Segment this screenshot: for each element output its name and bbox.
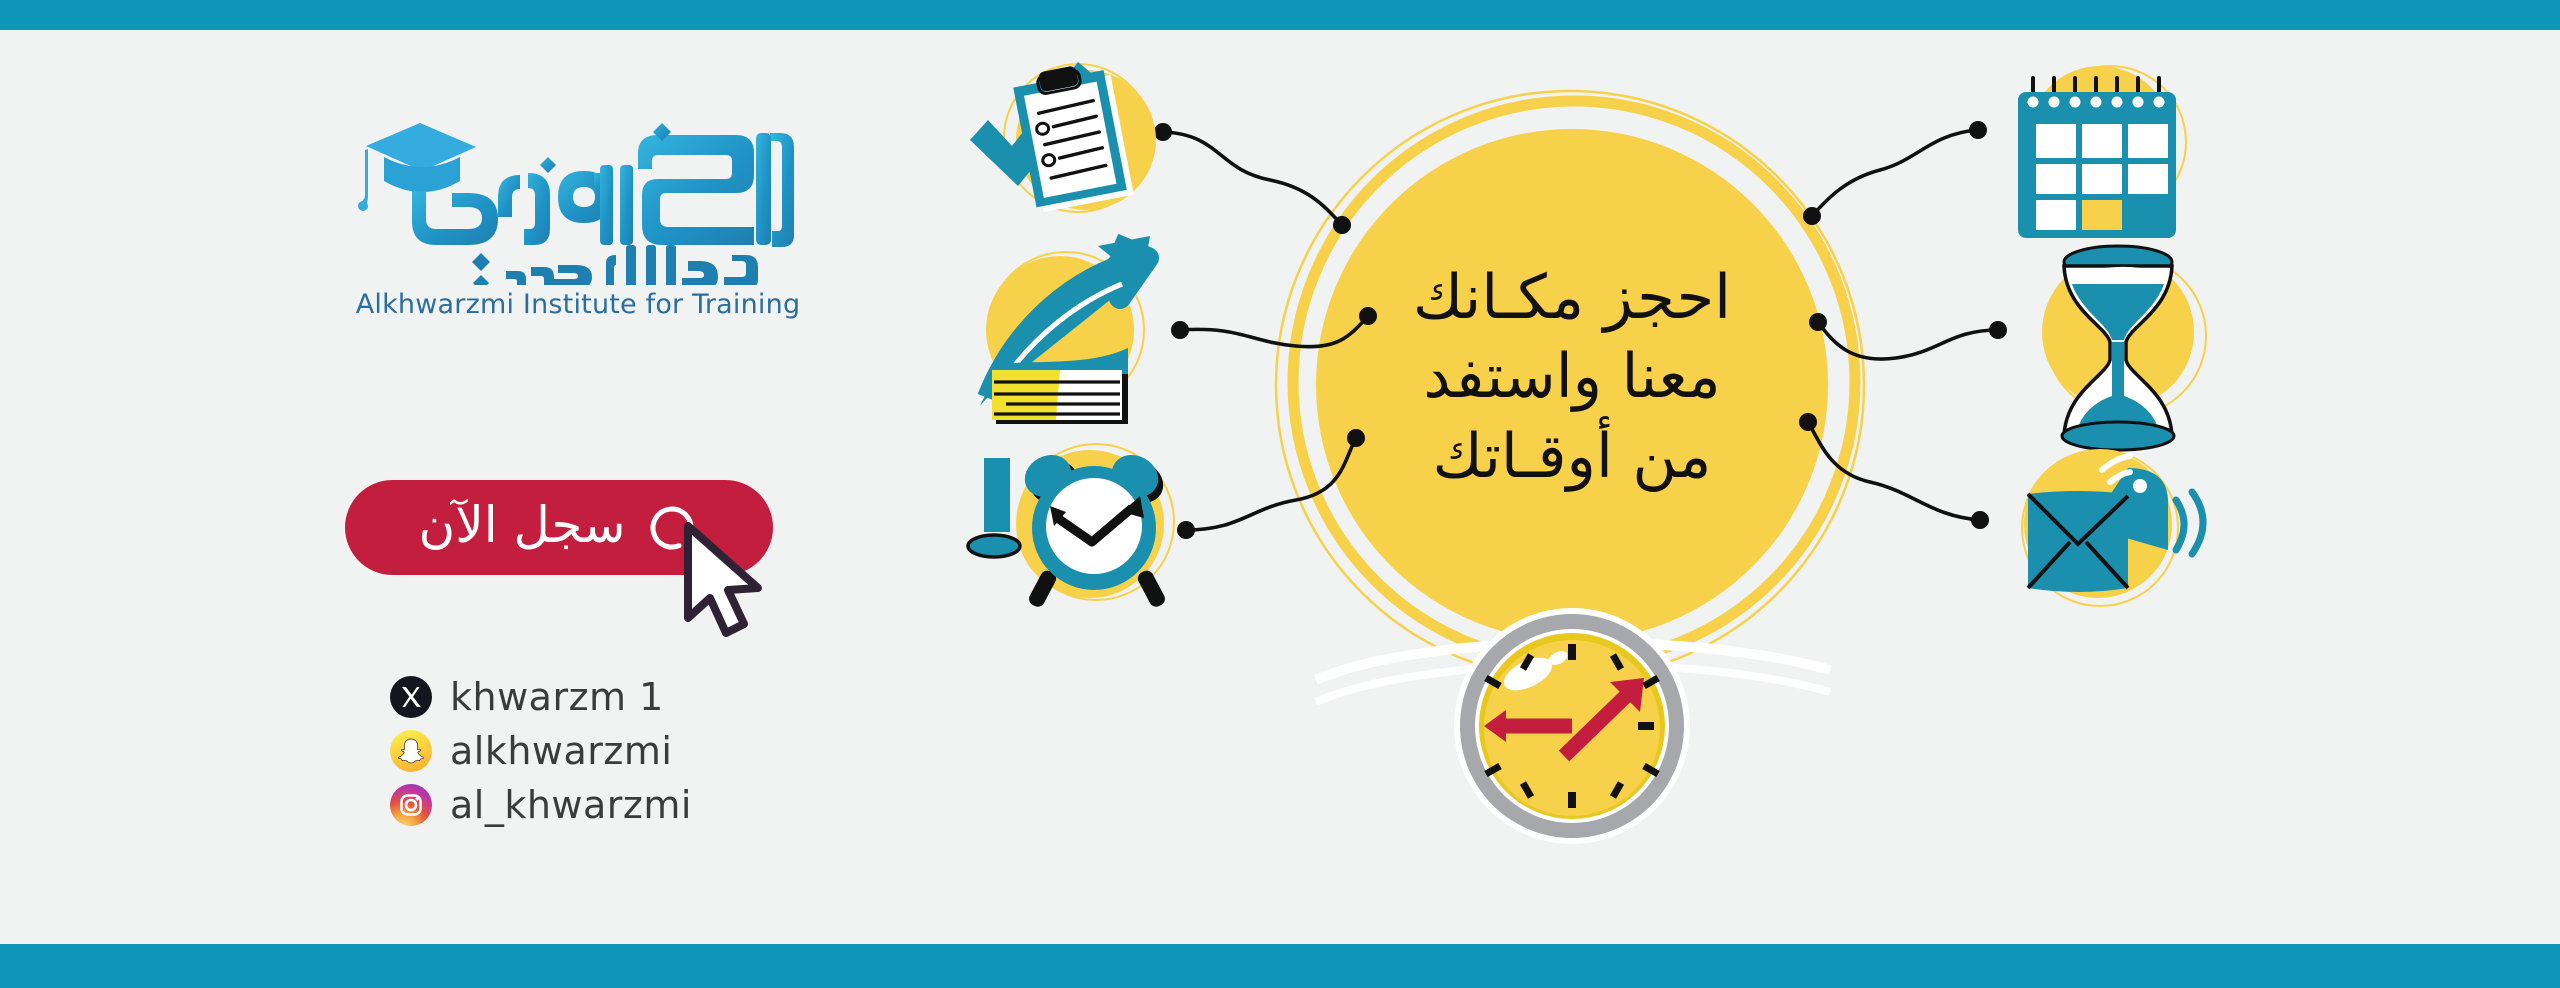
social-link-instagram[interactable]: al_khwarzmi bbox=[390, 783, 692, 827]
top-accent-bar bbox=[0, 0, 2560, 30]
register-now-button[interactable]: سجل الآن bbox=[345, 480, 773, 575]
wall-clock-icon bbox=[1316, 608, 1830, 844]
x-twitter-icon bbox=[390, 676, 432, 718]
social-link-x[interactable]: khwarzm 1 bbox=[390, 675, 692, 719]
clipboard-checklist-icon bbox=[970, 59, 1156, 213]
brand-tagline: Alkhwarzmi Institute for Training bbox=[348, 289, 808, 320]
social-handle-snapchat: alkhwarzmi bbox=[450, 729, 672, 773]
instagram-icon bbox=[390, 784, 432, 826]
social-links-list: khwarzm 1 alkhwarzmi bbox=[390, 675, 692, 827]
cta-container: سجل الآن bbox=[345, 480, 775, 610]
headline-line-2: معنا واستفد bbox=[1302, 337, 1842, 416]
artwork-panel: احجز مكـانك معنا واستفد من أوقـاتك bbox=[950, 30, 2560, 944]
alarm-clock-icon bbox=[968, 444, 1174, 609]
hourglass-icon bbox=[2042, 246, 2206, 450]
calendar-icon bbox=[2018, 66, 2186, 238]
social-handle-x: khwarzm 1 bbox=[450, 675, 664, 719]
promo-banner: Alkhwarzmi Institute for Training سجل ال… bbox=[0, 0, 2560, 988]
register-now-label: سجل الآن bbox=[418, 500, 625, 550]
headline-line-1: احجز مكـانك bbox=[1302, 258, 1842, 337]
logo-mark-icon bbox=[348, 105, 808, 285]
snapchat-icon bbox=[390, 730, 432, 772]
envelope-notification-icon bbox=[2022, 450, 2203, 606]
bottom-accent-bar bbox=[0, 944, 2560, 988]
social-link-snapchat[interactable]: alkhwarzmi bbox=[390, 729, 692, 773]
growth-arrow-documents-icon bbox=[978, 236, 1150, 424]
headline-line-3: من أوقـاتك bbox=[1302, 417, 1842, 496]
brand-logo: Alkhwarzmi Institute for Training bbox=[348, 105, 808, 320]
headline-text: احجز مكـانك معنا واستفد من أوقـاتك bbox=[1302, 258, 1842, 496]
left-panel: Alkhwarzmi Institute for Training سجل ال… bbox=[0, 30, 950, 944]
social-handle-instagram: al_khwarzmi bbox=[450, 783, 692, 827]
click-target-icon bbox=[644, 500, 700, 556]
